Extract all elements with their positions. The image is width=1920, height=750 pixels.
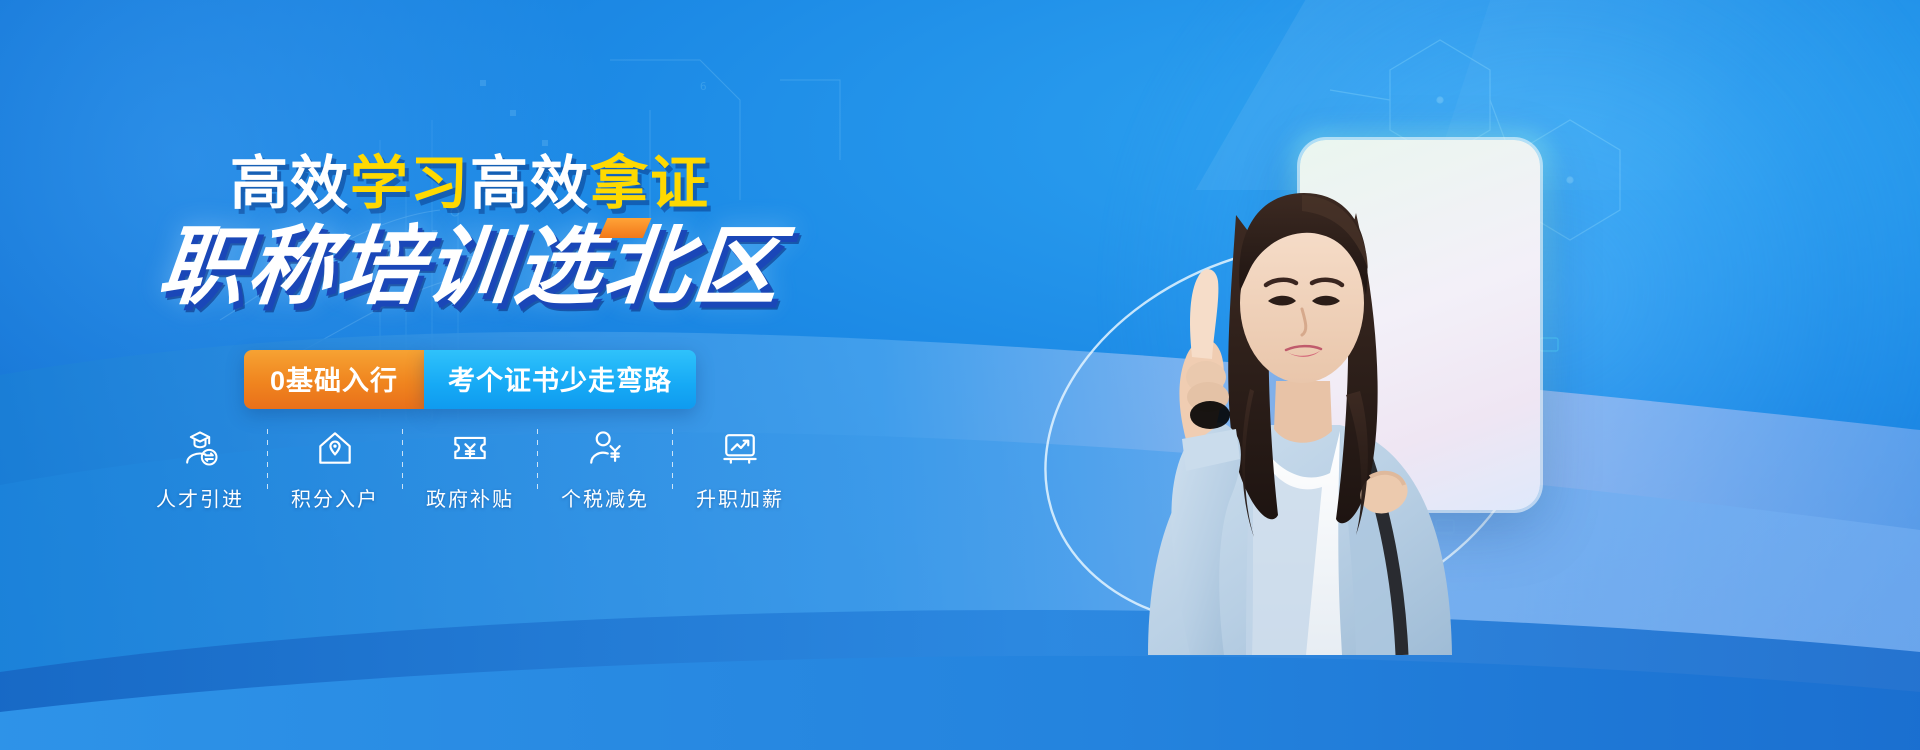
badge-certificate[interactable]: 考个证书少走弯路	[424, 350, 696, 409]
orange-accent-mark-icon	[598, 218, 651, 238]
feature-label: 积分入户	[291, 483, 379, 512]
feature-label: 人才引进	[156, 483, 244, 512]
feature-item-talent[interactable]: 人才引进	[133, 425, 267, 512]
feature-item-subsidy[interactable]: 政府补贴	[403, 425, 537, 512]
feature-item-tax[interactable]: 个税减免	[538, 425, 672, 512]
main-title-text: 职称培训选北区	[153, 219, 786, 315]
promo-banner: 2 39 6	[0, 0, 1920, 750]
chart-monitor-icon	[718, 425, 762, 471]
feature-row: 人才引进 积分入户	[0, 425, 940, 512]
feature-label: 升职加薪	[696, 483, 784, 512]
house-pin-icon	[313, 425, 357, 471]
feature-label: 个税减免	[561, 483, 649, 512]
copy-block: 高效学习高效拿证 职称培训选北区 0基础入行 考个证书少走弯路	[0, 0, 1000, 750]
model-photo	[1040, 95, 1500, 655]
headline: 高效学习高效拿证	[0, 155, 940, 213]
feature-item-household[interactable]: 积分入户	[268, 425, 402, 512]
badge-row: 0基础入行 考个证书少走弯路	[0, 350, 940, 409]
headline-seg-2: 学习	[350, 151, 470, 216]
person-yuan-icon	[583, 425, 627, 471]
headline-seg-3: 高效	[470, 151, 590, 216]
main-title-wrap: 职称培训选北区	[0, 222, 940, 312]
headline-seg-1: 高效	[230, 151, 350, 216]
headline-seg-4: 拿证	[590, 151, 710, 216]
feature-label: 政府补贴	[426, 483, 514, 512]
graduate-person-icon	[178, 425, 222, 471]
main-title: 职称培训选北区	[154, 222, 786, 312]
badge-zero-base[interactable]: 0基础入行	[244, 350, 424, 409]
ticket-yuan-icon	[448, 425, 492, 471]
feature-item-promotion[interactable]: 升职加薪	[673, 425, 807, 512]
